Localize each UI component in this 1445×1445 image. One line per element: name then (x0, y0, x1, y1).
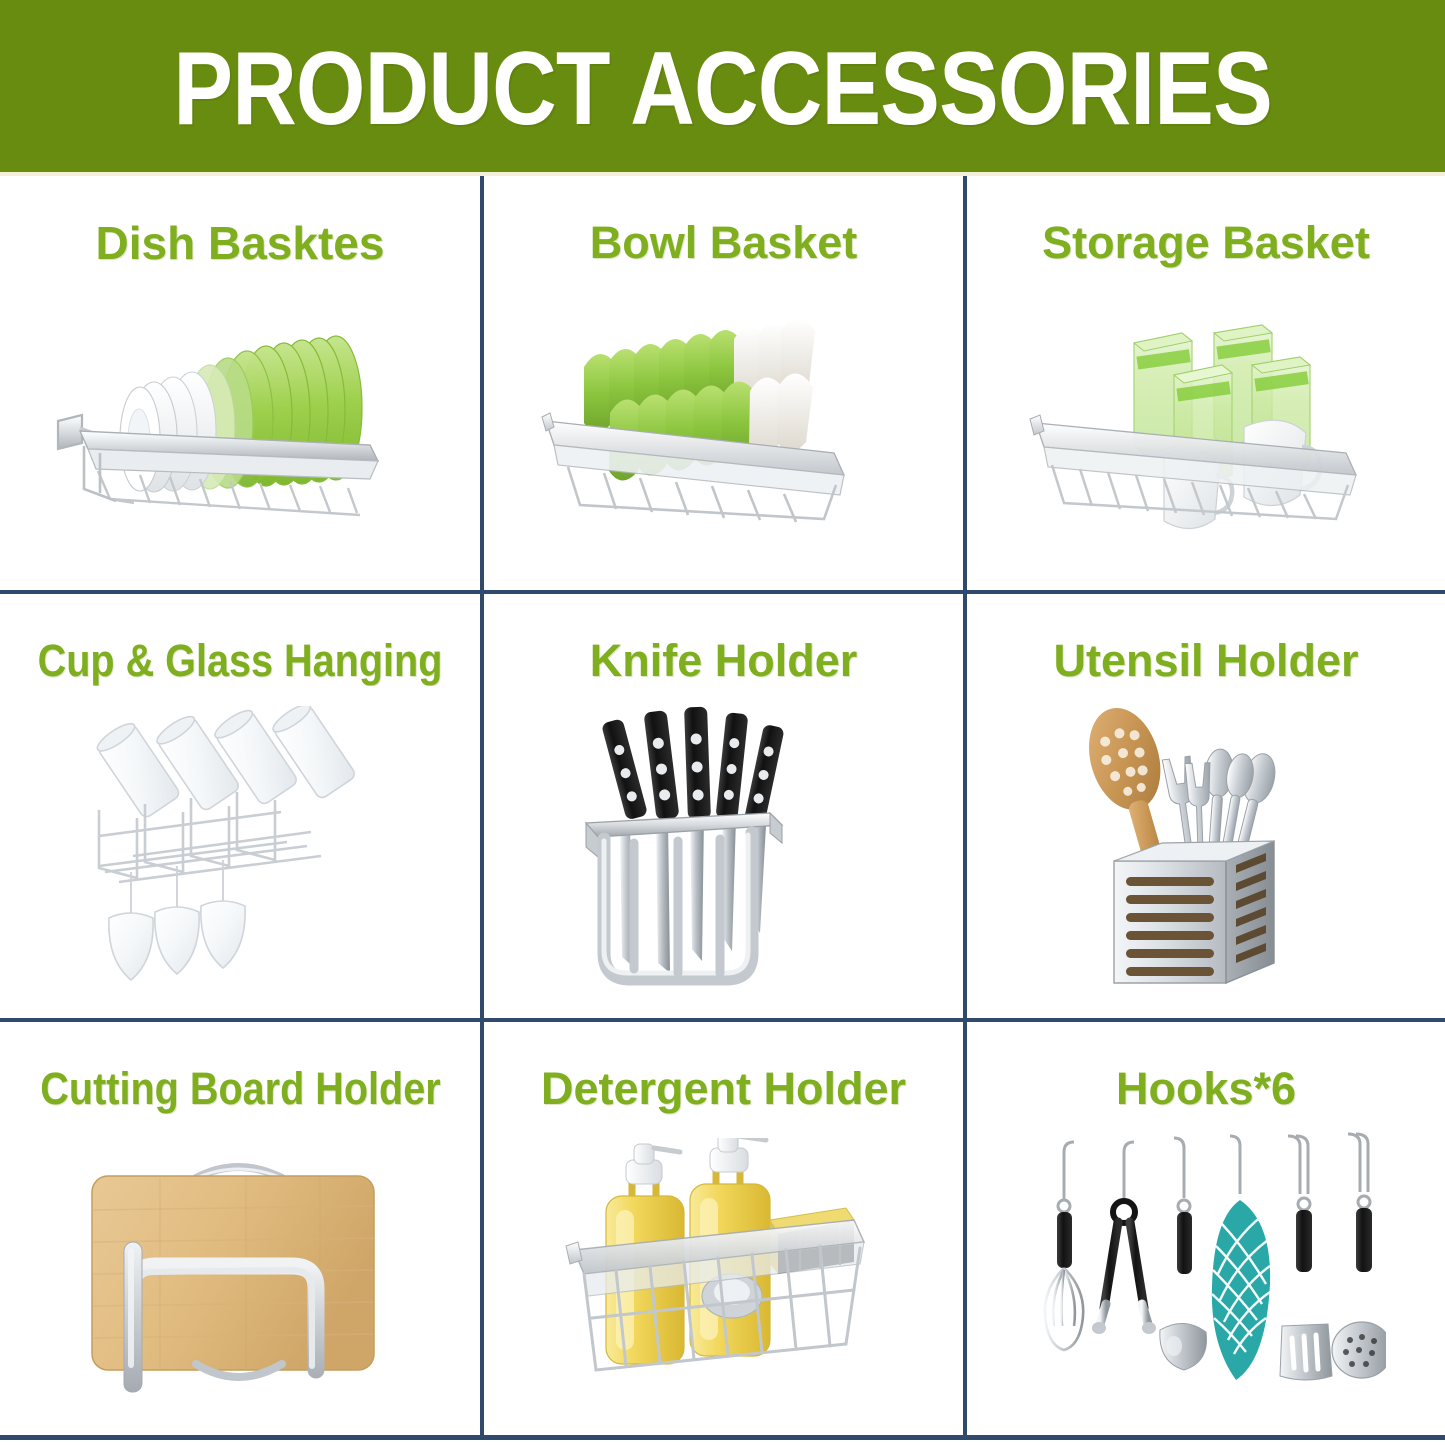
cell-title-cutting-board-holder: Cutting Board Holder (40, 1066, 440, 1111)
hooks-image (967, 1111, 1445, 1435)
cell-title-storage-basket: Storage Basket (1042, 220, 1370, 265)
cell-detergent-holder[interactable]: Detergent Holder (484, 1022, 963, 1435)
bowl-basket-illustration (524, 313, 924, 543)
cup-glass-hanging-illustration (75, 706, 405, 996)
hook-ladle (1160, 1138, 1207, 1370)
cup-glass-hanging-image (0, 683, 480, 1018)
cell-title-knife-holder: Knife Holder (590, 638, 858, 683)
cell-title-bowl-basket: Bowl Basket (590, 220, 858, 265)
cutting-board-illustration (70, 1138, 410, 1408)
cell-knife-holder[interactable]: Knife Holder (484, 594, 963, 1018)
dish-baskets-image (0, 266, 480, 590)
hook-tongs (1092, 1142, 1156, 1334)
cell-cup-glass-hanging[interactable]: Cup & Glass Hanging (0, 594, 480, 1018)
page-title: PRODUCT ACCESSORIES (173, 31, 1271, 141)
cell-hooks[interactable]: Hooks*6 (967, 1022, 1445, 1435)
product-accessories-infographic: PRODUCT ACCESSORIES Dish Basktes (0, 0, 1445, 1445)
cell-storage-basket[interactable]: Storage Basket (967, 176, 1445, 590)
hook-spatula (1280, 1136, 1332, 1380)
cell-title-detergent-holder: Detergent Holder (541, 1066, 906, 1111)
hooks-illustration (1026, 1128, 1386, 1418)
detergent-holder-illustration (554, 1138, 894, 1408)
hook-whisk (1045, 1142, 1083, 1350)
bottom-border (0, 1435, 1445, 1440)
cell-title-utensil-holder: Utensil Holder (1053, 638, 1358, 683)
utensil-holder-image (967, 683, 1445, 1018)
utensil-holder-illustration (1066, 701, 1346, 1001)
storage-basket-image (967, 265, 1445, 590)
detergent-holder-image (484, 1111, 963, 1435)
cell-bowl-basket[interactable]: Bowl Basket (484, 176, 963, 590)
knife-holder-illustration (574, 701, 874, 1001)
cell-title-cup-glass-hanging: Cup & Glass Hanging (38, 638, 443, 683)
hook-towel (1212, 1136, 1270, 1380)
accessories-grid: Dish Basktes (0, 176, 1445, 1435)
cell-utensil-holder[interactable]: Utensil Holder (967, 594, 1445, 1018)
bowl-basket-image (484, 265, 963, 590)
cell-dish-baskets[interactable]: Dish Basktes (0, 176, 480, 590)
hook-skimmer (1332, 1134, 1386, 1378)
storage-basket-illustration (1006, 303, 1406, 553)
cell-cutting-board-holder[interactable]: Cutting Board Holder (0, 1022, 480, 1435)
cell-title-hooks: Hooks*6 (1116, 1066, 1296, 1111)
cell-title-dish-baskets: Dish Basktes (96, 220, 385, 266)
dish-rack-illustration (40, 303, 440, 553)
cutting-board-holder-image (0, 1111, 480, 1435)
knife-holder-image (484, 683, 963, 1018)
header-banner: PRODUCT ACCESSORIES (0, 0, 1445, 172)
